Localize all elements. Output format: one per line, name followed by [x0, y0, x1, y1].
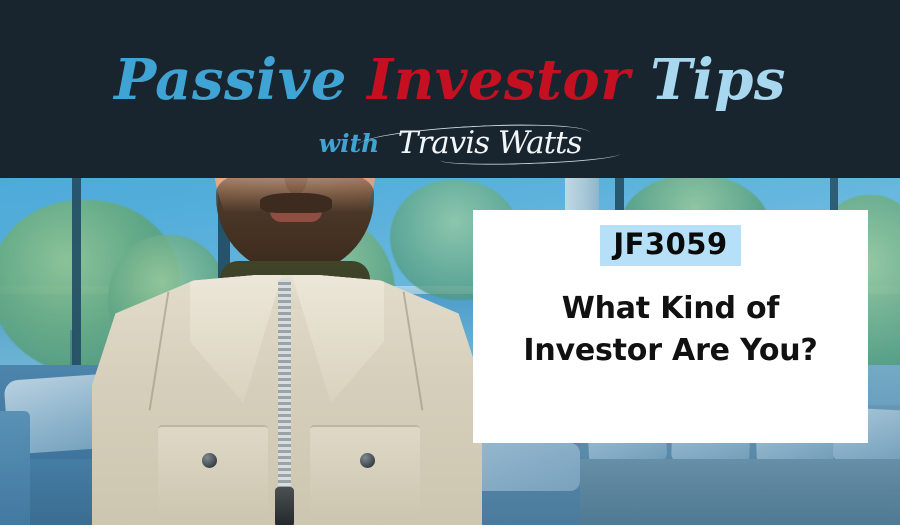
moustache	[260, 193, 332, 213]
episode-title-line-2: Investor Are You?	[495, 330, 846, 372]
jacket-seam	[149, 292, 170, 411]
jacket-chest-pocket	[310, 425, 420, 517]
host-byline: with Travis Watts	[0, 128, 900, 159]
show-title-word-investor: Investor	[367, 47, 630, 113]
show-title: Passive Investor Tips	[0, 52, 900, 108]
host-signature-wrap: Travis Watts	[384, 128, 582, 159]
pocket-snap-button	[360, 453, 375, 468]
beard	[216, 171, 374, 275]
show-title-word-passive: Passive	[114, 47, 347, 113]
zipper-pull	[275, 487, 294, 525]
pocket-snap-button	[202, 453, 217, 468]
episode-number-badge: JF3059	[600, 225, 740, 266]
episode-title-line-1: What Kind of	[495, 288, 846, 330]
jacket-lapel	[292, 275, 384, 403]
show-title-word-tips: Tips	[650, 47, 786, 113]
podcast-thumbnail: Passive Investor Tips with Travis Watts …	[0, 0, 900, 525]
suede-jacket	[92, 275, 482, 525]
episode-title-card: JF3059 What Kind of Investor Are You?	[473, 210, 868, 443]
episode-title: What Kind of Investor Are You?	[473, 288, 868, 372]
show-header-bar: Passive Investor Tips with Travis Watts	[0, 0, 900, 178]
jacket-seam	[403, 292, 424, 411]
jacket-lapel	[190, 275, 282, 403]
jacket-chest-pocket	[158, 425, 268, 517]
